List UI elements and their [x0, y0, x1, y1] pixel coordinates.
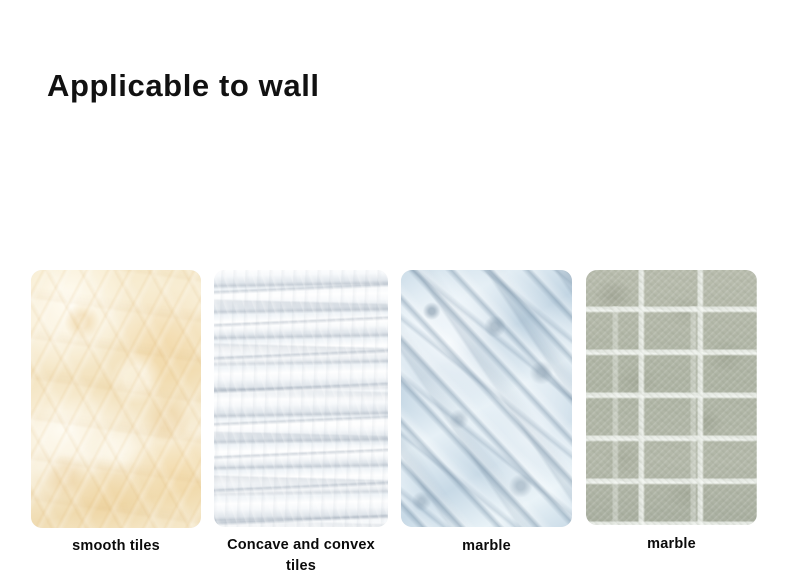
- texture-panel-marble-stone[interactable]: marble: [586, 270, 757, 525]
- texture-panel-marble-blue[interactable]: marble: [401, 270, 572, 527]
- texture-panel-concave-and-convex-tiles[interactable]: Concave and convex tiles: [214, 270, 388, 527]
- texture-caption: marble: [586, 534, 757, 555]
- texture-layer-grain: [214, 270, 388, 527]
- texture-swatch-white-ledge-stone[interactable]: [214, 270, 388, 527]
- texture-panel-row: smooth tiles Concave and convex tiles ma…: [0, 270, 790, 582]
- texture-swatch-green-grey-stone-block-wall[interactable]: [586, 270, 757, 525]
- texture-layer-veins: [31, 270, 201, 528]
- texture-layer-specks: [401, 270, 572, 527]
- page-title: Applicable to wall: [47, 68, 320, 104]
- texture-panel-smooth-tiles[interactable]: smooth tiles: [31, 270, 201, 528]
- texture-caption: smooth tiles: [31, 536, 201, 557]
- texture-swatch-cream-onyx-marble-tile[interactable]: [31, 270, 201, 528]
- texture-caption: Concave and convex tiles: [214, 535, 388, 577]
- texture-swatch-blue-grey-carrara-marble[interactable]: [401, 270, 572, 527]
- texture-caption: marble: [401, 536, 572, 557]
- texture-layer-grain: [586, 270, 757, 525]
